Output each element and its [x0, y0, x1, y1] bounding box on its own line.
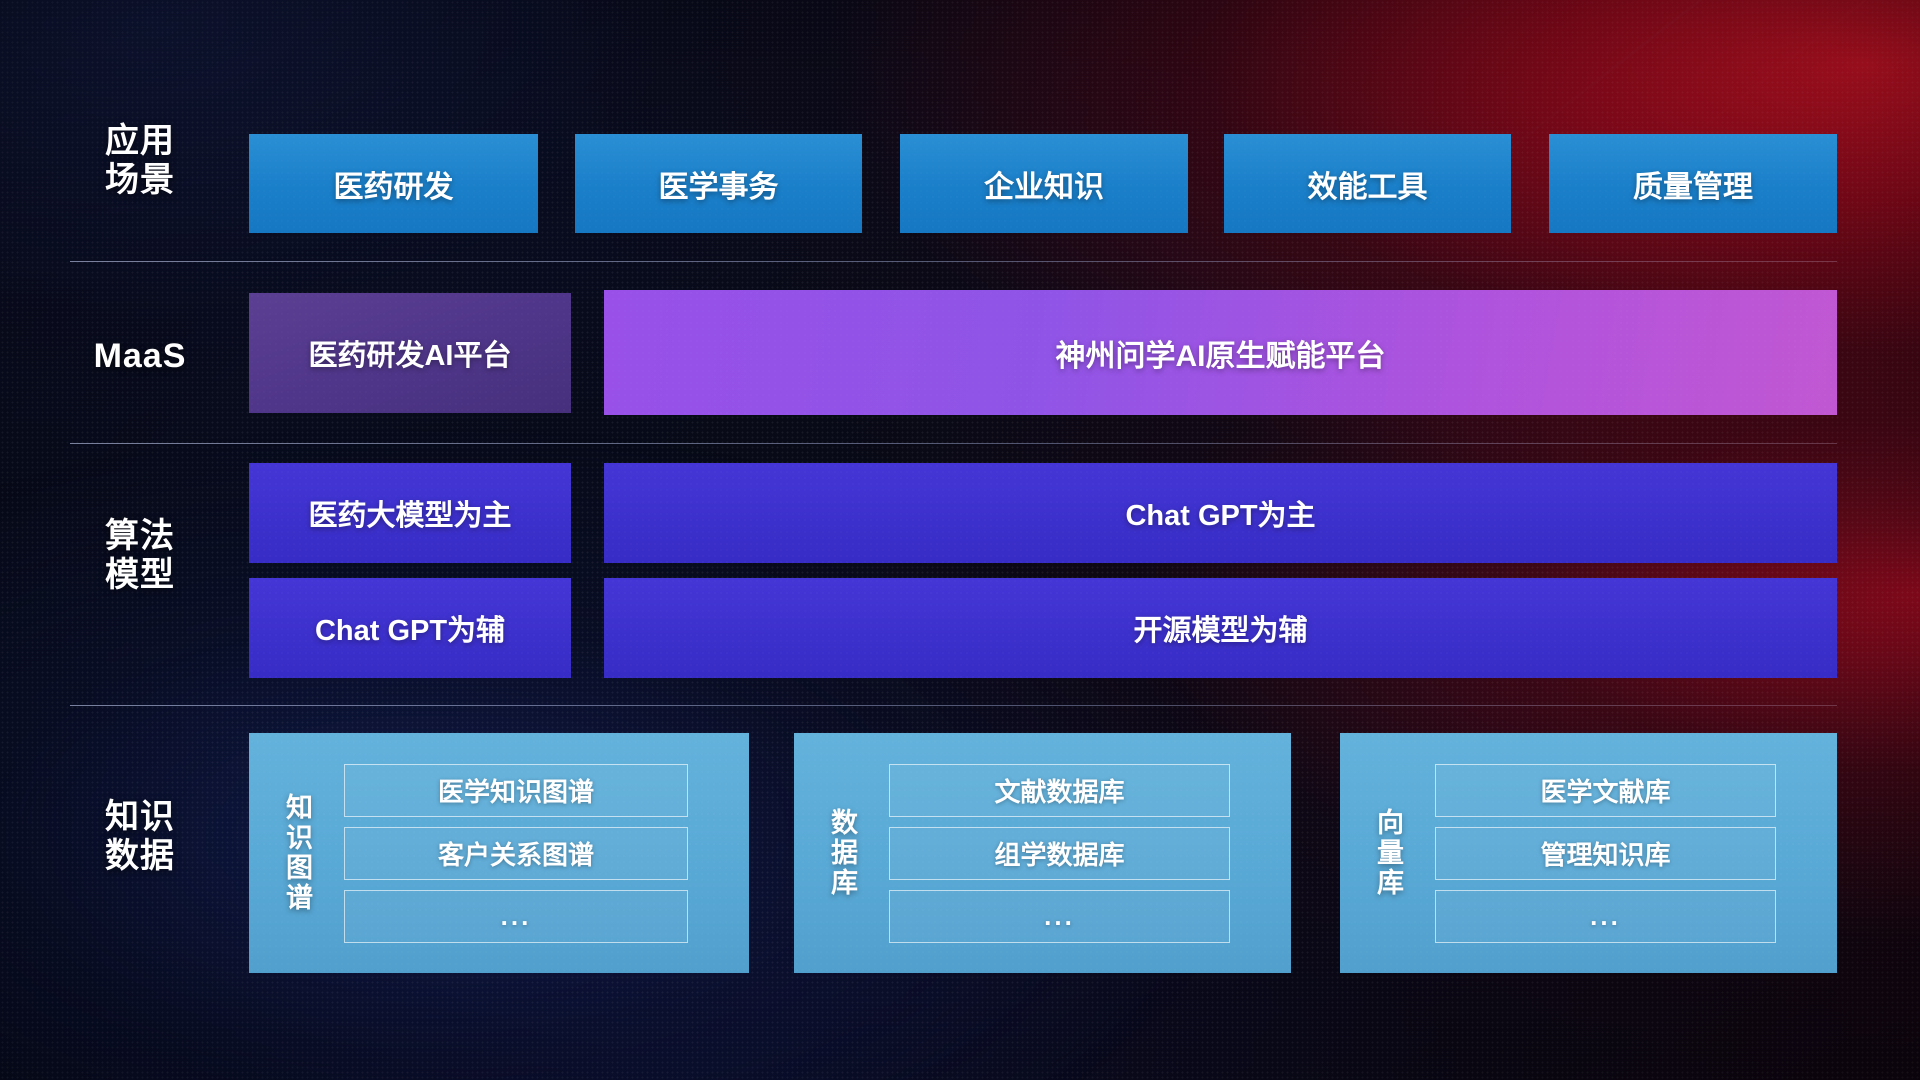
maas-right-tile-label: 神州问学AI原生赋能平台: [1056, 331, 1386, 375]
maas-left-tile[interactable]: 医药研发AI平台: [249, 293, 571, 413]
algo-right-tile-0-label: Chat GPT为主: [1125, 492, 1315, 534]
knowledge-panel-0-title: 知识图谱: [249, 733, 344, 973]
knowledge-panel-0[interactable]: 知识图谱 医学知识图谱 客户关系图谱 ...: [249, 733, 749, 973]
app-tile-3[interactable]: 效能工具: [1224, 134, 1511, 233]
algo-left-tile-1[interactable]: Chat GPT为辅: [249, 578, 571, 678]
algo-right-tile-1[interactable]: 开源模型为辅: [604, 578, 1837, 678]
knowledge-item[interactable]: 客户关系图谱: [344, 827, 688, 880]
divider-maas-algorithm: [70, 443, 1837, 444]
knowledge-item[interactable]: ...: [344, 890, 688, 943]
row-label-algorithm: 算法 模型: [70, 517, 210, 595]
divider-algorithm-knowledge: [70, 705, 1837, 706]
knowledge-item[interactable]: 医学知识图谱: [344, 764, 688, 817]
maas-left-tile-label: 医药研发AI平台: [308, 332, 511, 374]
knowledge-item[interactable]: 组学数据库: [889, 827, 1230, 880]
algo-right-tile-0[interactable]: Chat GPT为主: [604, 463, 1837, 563]
knowledge-panel-0-items: 医学知识图谱 客户关系图谱 ...: [344, 733, 712, 973]
architecture-diagram: 应用 场景 医药研发 医学事务 企业知识 效能工具 质量管理 MaaS 医药研发…: [0, 0, 1920, 1080]
knowledge-item[interactable]: ...: [889, 890, 1230, 943]
knowledge-item-label: 医学知识图谱: [438, 772, 594, 809]
app-tile-3-label: 效能工具: [1308, 162, 1428, 206]
knowledge-item[interactable]: 管理知识库: [1435, 827, 1776, 880]
divider-application-maas: [70, 261, 1837, 262]
app-tile-1-label: 医学事务: [659, 162, 779, 206]
knowledge-item-label: 组学数据库: [994, 835, 1124, 872]
row-label-application: 应用 场景: [70, 122, 210, 200]
row-label-maas: MaaS: [70, 337, 210, 376]
knowledge-item-label: 文献数据库: [994, 772, 1124, 809]
knowledge-item-label: 客户关系图谱: [438, 835, 594, 872]
knowledge-item-label: 医学文献库: [1540, 772, 1670, 809]
knowledge-item-label: ...: [501, 901, 532, 932]
app-tile-0[interactable]: 医药研发: [249, 134, 538, 233]
app-tile-4[interactable]: 质量管理: [1549, 134, 1837, 233]
knowledge-panel-2-title: 向量库: [1340, 733, 1435, 973]
algo-left-tile-0-label: 医药大模型为主: [308, 492, 511, 534]
knowledge-panel-2-items: 医学文献库 管理知识库 ...: [1435, 733, 1800, 973]
knowledge-item[interactable]: ...: [1435, 890, 1776, 943]
knowledge-panel-1-title: 数据库: [794, 733, 889, 973]
algo-left-tile-0[interactable]: 医药大模型为主: [249, 463, 571, 563]
maas-right-tile[interactable]: 神州问学AI原生赋能平台: [604, 290, 1837, 415]
app-tile-0-label: 医药研发: [334, 162, 454, 206]
knowledge-item-label: 管理知识库: [1540, 835, 1670, 872]
knowledge-item[interactable]: 文献数据库: [889, 764, 1230, 817]
knowledge-item[interactable]: 医学文献库: [1435, 764, 1776, 817]
algo-right-tile-1-label: 开源模型为辅: [1133, 607, 1307, 649]
knowledge-panel-1-items: 文献数据库 组学数据库 ...: [889, 733, 1254, 973]
knowledge-item-label: ...: [1590, 901, 1621, 932]
app-tile-1[interactable]: 医学事务: [575, 134, 862, 233]
row-label-knowledge: 知识 数据: [70, 798, 210, 876]
knowledge-panel-1[interactable]: 数据库 文献数据库 组学数据库 ...: [794, 733, 1291, 973]
app-tile-2-label: 企业知识: [984, 162, 1104, 206]
algo-left-tile-1-label: Chat GPT为辅: [315, 607, 505, 649]
knowledge-item-label: ...: [1044, 901, 1075, 932]
app-tile-2[interactable]: 企业知识: [900, 134, 1188, 233]
app-tile-4-label: 质量管理: [1633, 162, 1753, 206]
knowledge-panel-2[interactable]: 向量库 医学文献库 管理知识库 ...: [1340, 733, 1837, 973]
